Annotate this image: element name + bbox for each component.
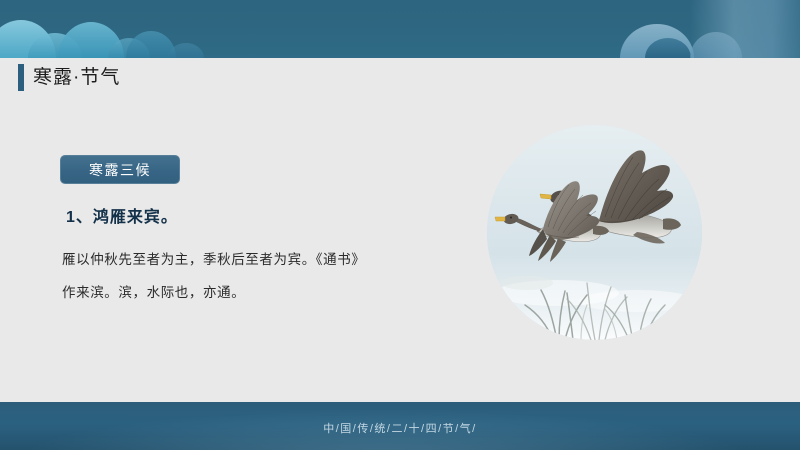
section-badge: 寒露三候: [60, 155, 180, 184]
section-heading: 1、鸿雁来宾。: [66, 203, 178, 227]
footer-label: 中/国/传/统/二/十/四/节/气/: [0, 420, 800, 436]
top-banner: [0, 0, 800, 58]
page-title: 寒露·节气: [18, 64, 120, 91]
section-badge-label: 寒露三候: [89, 163, 151, 177]
geese-illustration: [487, 125, 702, 340]
title-accent-bar: [18, 64, 24, 91]
slide-canvas: 寒露·节气 寒露三候 1、鸿雁来宾。 雁以仲秋先至者为主，季秋后至者为宾。《通书…: [0, 0, 800, 450]
banner-light-band: [690, 0, 800, 58]
page-title-label: 寒露·节气: [33, 68, 120, 87]
body-line: 雁以仲秋先至者为主，季秋后至者为宾。《通书》: [62, 243, 402, 276]
footer-bar: 中/国/传/统/二/十/四/节/气/: [0, 402, 800, 450]
body-paragraph: 雁以仲秋先至者为主，季秋后至者为宾。《通书》 作来滨。滨，水际也，亦通。: [62, 243, 402, 309]
body-line: 作来滨。滨，水际也，亦通。: [62, 276, 402, 309]
geese-illustration-svg: [487, 125, 702, 340]
